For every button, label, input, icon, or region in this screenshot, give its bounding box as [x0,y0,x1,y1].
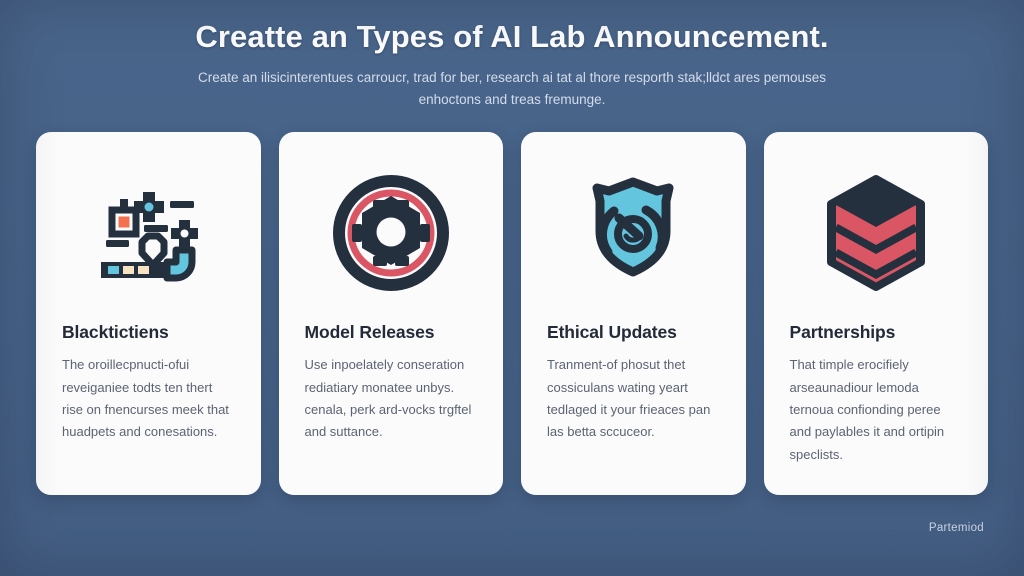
card-ethical-updates[interactable]: Ethical Updates Tranment-of phosut thet … [521,132,746,495]
gear-ring-icon [305,158,478,308]
card-blacktictiens[interactable]: Blacktictiens The oroillecpnucti-ofui re… [36,132,261,495]
card-body: Tranment-of phosut thet cossiculans wati… [547,354,720,443]
card-partnerships[interactable]: Partnerships That timple erocifiely arse… [764,132,989,495]
layers-stack-icon [790,158,963,308]
page-subtitle: Create an ilisicinterentues carroucr, tr… [182,67,842,112]
research-lab-icon [62,158,235,308]
card-title: Model Releases [305,322,478,343]
card-title: Blacktictiens [62,322,235,343]
card-body: That timple erocifiely arseaunadiour lem… [790,354,963,466]
card-grid: Blacktictiens The oroillecpnucti-ofui re… [0,111,1024,495]
page-title: Creatte an Types of AI Lab Announcement. [60,18,964,57]
shield-swirl-icon [547,158,720,308]
poster-footer: Partemiod [0,495,1024,576]
card-model-releases[interactable]: Model Releases Use inpoelately conserati… [279,132,504,495]
card-body: The oroillecpnucti-ofui reveiganiee todt… [62,354,235,443]
poster-header: Creatte an Types of AI Lab Announcement.… [0,0,1024,111]
footer-watermark: Partemiod [929,522,984,534]
poster-canvas: Creatte an Types of AI Lab Announcement.… [0,0,1024,576]
card-body: Use inpoelately conseration rediatiary m… [305,354,478,443]
card-title: Ethical Updates [547,322,720,343]
card-title: Partnerships [790,322,963,343]
